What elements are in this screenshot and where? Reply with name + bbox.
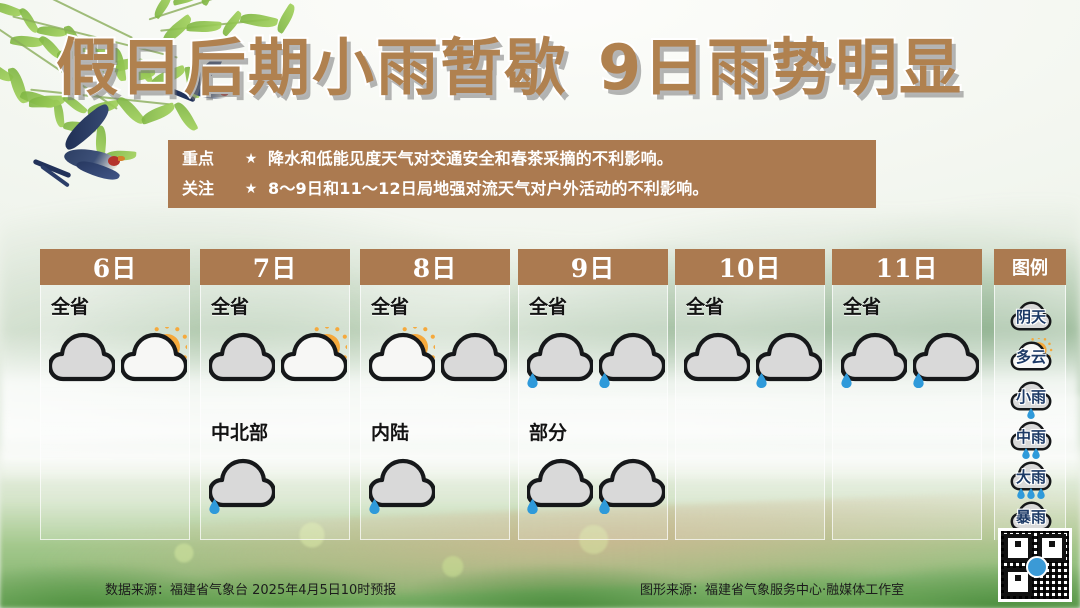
legend-label: 大雨 [997,466,1065,487]
day-header: 7日 [200,249,350,285]
weather-icon [756,327,822,403]
forecast-day-column[interactable]: 8日全省内陆 [360,250,510,540]
region-label: 全省 [361,292,511,319]
qr-logo-icon [1026,556,1048,578]
region-label: 部分 [519,418,669,445]
weather-icon-row [361,453,511,529]
page-title: 假日后期小雨暂歇9日雨势明显 [56,28,1036,108]
day-header: 9日 [518,249,668,285]
raindrop-icon [527,373,538,388]
day-header: 10日 [675,249,825,285]
legend-panel: 图例 阴天多云小雨 中雨 大雨 暴雨 [994,250,1066,540]
qr-code[interactable] [998,528,1072,602]
weather-icon [599,453,665,529]
weather-icon [527,327,593,403]
weather-icon-row [676,327,826,403]
legend-label: 多云 [997,346,1065,367]
weather-icon [527,453,593,529]
legend-label: 中雨 [997,426,1065,447]
weather-icon [121,327,187,403]
forecast-region-group: 全省 [41,292,191,403]
legend-item: 阴天 [997,298,1065,338]
notice-text: 降水和低能见度天气对交通安全和春茶采摘的不利影响。 [268,144,673,174]
notice-row: 关注 ★ 8～9日和11～12日局地强对流天气对户外活动的不利影响。 [182,174,862,204]
weather-icon-partly-sunny [121,327,187,387]
region-label: 中北部 [201,418,351,445]
swallow-beak-icon [118,156,125,161]
swallow-illustration [36,112,146,202]
weather-icon [281,327,347,403]
forecast-day-column[interactable]: 10日全省 [675,250,825,540]
region-label: 全省 [41,292,191,319]
notice-tag-label: 关注 [182,174,234,204]
leaf-icon [151,0,175,19]
weather-icon-row [361,327,511,403]
weather-icon-overcast [441,327,507,387]
weather-icon-partly-sunny [281,327,347,387]
weather-icon-row [41,327,191,403]
region-label: 全省 [833,292,983,319]
weather-icon [49,327,115,403]
star-icon: ★ [234,174,268,204]
weather-icon-row [519,327,669,403]
weather-icon [369,327,435,403]
day-header: 6日 [40,249,190,285]
weather-icon-overcast [49,327,115,387]
region-label: 全省 [519,292,669,319]
forecast-region-group: 全省 [519,292,669,403]
legend-item: 中雨 [997,418,1065,458]
forecast-region-group: 全省 [201,292,351,403]
infographic-canvas: 假日后期小雨暂歇9日雨势明显 重点 ★ 降水和低能见度天气对交通安全和春茶采摘的… [0,0,1080,608]
raindrop-icon [527,499,538,514]
weather-icon-row [519,453,669,529]
region-label: 全省 [201,292,351,319]
forecast-day-column[interactable]: 6日全省 [40,250,190,540]
weather-icon [441,327,507,403]
legend-label: 小雨 [997,386,1065,407]
raindrop-icon [209,499,220,514]
raindrop-icon [369,499,380,514]
legend-label: 阴天 [997,306,1065,327]
weather-icon [369,453,435,529]
notice-text: 8～9日和11～12日局地强对流天气对户外活动的不利影响。 [268,174,709,204]
weather-icon [599,327,665,403]
notice-box: 重点 ★ 降水和低能见度天气对交通安全和春茶采摘的不利影响。 关注 ★ 8～9日… [168,140,876,208]
day-header: 11日 [832,249,982,285]
legend-item: 小雨 [997,378,1065,418]
title-part-2: 9日雨势明显 [598,31,963,104]
forecast-region-group: 内陆 [361,418,511,529]
forecast-day-column[interactable]: 9日全省 部分 [518,250,668,540]
raindrop-icon [913,373,924,388]
notice-row: 重点 ★ 降水和低能见度天气对交通安全和春茶采摘的不利影响。 [182,144,862,174]
weather-icon [209,327,275,403]
day-header: 8日 [360,249,510,285]
footer-graphic-source: 图形来源：福建省气象服务中心·融媒体工作室 [640,579,904,598]
region-label: 全省 [676,292,826,319]
forecast-region-group: 全省 [676,292,826,403]
raindrop-icon [599,499,610,514]
weather-icon [209,453,275,529]
weather-icon-row [833,327,983,403]
weather-icon-row [201,327,351,403]
forecast-day-column[interactable]: 11日全省 [832,250,982,540]
forecast-region-group: 部分 [519,418,669,529]
leaf-icon [198,0,220,6]
forecast-day-column[interactable]: 7日全省中北部 [200,250,350,540]
region-label: 内陆 [361,418,511,445]
title-part-1: 假日后期小雨暂歇 [56,31,568,104]
star-icon: ★ [234,144,268,174]
weather-icon-row [201,453,351,529]
forecast-region-group: 中北部 [201,418,351,529]
legend-item: 大雨 [997,458,1065,498]
legend-title: 图例 [994,249,1066,285]
legend-label: 暴雨 [997,506,1065,527]
forecast-region-group: 全省 [361,292,511,403]
forecast-region-group: 全省 [833,292,983,403]
legend-item: 多云 [997,338,1065,378]
weather-icon [841,327,907,403]
weather-icon-overcast [209,327,275,387]
notice-tag-label: 重点 [182,144,234,174]
raindrop-icon [599,373,610,388]
raindrop-icon [841,373,852,388]
footer-data-source: 数据来源：福建省气象台 2025年4月5日10时预报 [105,579,396,598]
weather-icon-partly-sunny [369,327,435,387]
weather-icon [913,327,979,403]
weather-icon [684,327,750,403]
raindrop-icon [756,373,767,388]
weather-icon-overcast [684,327,750,387]
qr-finder-icon [1004,534,1032,562]
